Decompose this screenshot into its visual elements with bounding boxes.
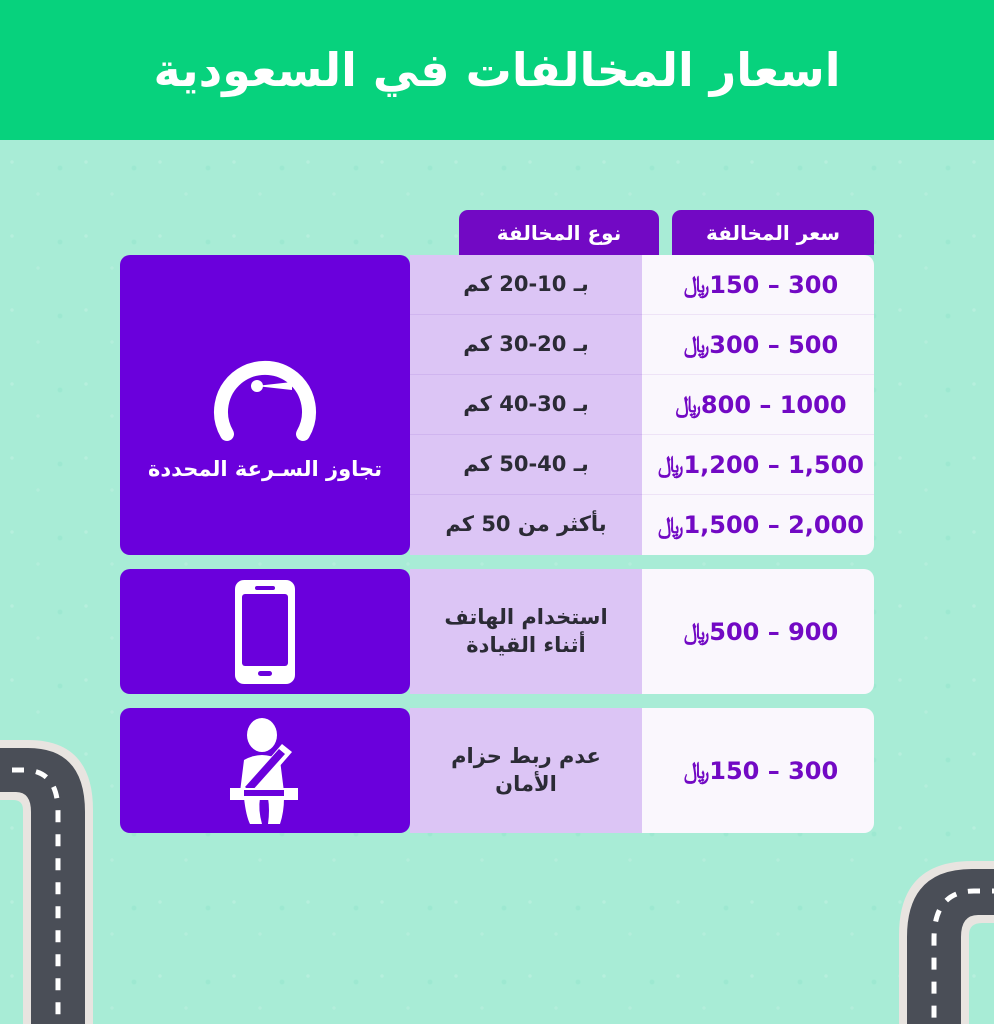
column-header-type: نوع المخالفة: [459, 210, 659, 255]
saudi-riyal-icon: ﷼: [675, 394, 700, 417]
table-row: ﷼150 – 300بـ 10-20 كم: [410, 255, 874, 315]
mobile-phone-icon: [233, 578, 297, 686]
cell-violation-price: ﷼1,500 – 2,000: [642, 495, 874, 555]
page-header-bar: اسعار المخالفات في السعودية: [0, 0, 994, 140]
cell-violation-price: ﷼800 – 1000: [642, 375, 874, 435]
violation-icon-card: تجاوز السـرعة المحددة: [120, 255, 410, 555]
violation-group-rows: ﷼150 – 300بـ 10-20 كم﷼300 – 500بـ 20-30 …: [410, 255, 874, 555]
cell-violation-price: ﷼300 – 500: [642, 315, 874, 375]
cell-violation-price: ﷼150 – 300: [642, 708, 874, 833]
saudi-riyal-icon: ﷼: [658, 515, 683, 538]
curved-road-right-decoration: [864, 825, 994, 1024]
violation-group-rows: ﷼150 – 300عدم ربط حزام الأمان: [410, 708, 874, 833]
violations-table: سعر المخالفة نوع المخالفة ﷼150 – 300بـ 1…: [120, 210, 874, 847]
table-column-headers: سعر المخالفة نوع المخالفة: [120, 210, 874, 255]
cell-violation-type: بـ 20-30 كم: [410, 315, 642, 375]
table-row: ﷼800 – 1000بـ 30-40 كم: [410, 375, 874, 435]
price-amount: 1,500 – 2,000: [683, 511, 864, 539]
violation-icon-card: [120, 569, 410, 694]
cell-violation-price: ﷼1,200 – 1,500: [642, 435, 874, 495]
seatbelt-icon: [210, 716, 320, 826]
page-title: اسعار المخالفات في السعودية: [153, 43, 840, 97]
cell-violation-type: بـ 30-40 كم: [410, 375, 642, 435]
price-amount: 150 – 300: [709, 757, 838, 785]
speedometer-icon: [200, 326, 330, 446]
violation-card-label: تجاوز السـرعة المحددة: [148, 456, 382, 483]
violation-icon-card: [120, 708, 410, 833]
column-header-price: سعر المخالفة: [672, 210, 874, 255]
violation-group: ﷼150 – 300بـ 10-20 كم﷼300 – 500بـ 20-30 …: [120, 255, 874, 555]
price-amount: 500 – 900: [709, 618, 838, 646]
price-amount: 300 – 500: [709, 331, 838, 359]
table-row: ﷼150 – 300عدم ربط حزام الأمان: [410, 708, 874, 833]
cell-violation-type: استخدام الهاتف أثناء القيادة: [410, 569, 642, 694]
price-amount: 800 – 1000: [701, 391, 847, 419]
cell-violation-type: بأكثر من 50 كم: [410, 495, 642, 555]
violation-group-rows: ﷼500 – 900استخدام الهاتف أثناء القيادة: [410, 569, 874, 694]
table-row: ﷼500 – 900استخدام الهاتف أثناء القيادة: [410, 569, 874, 694]
saudi-riyal-icon: ﷼: [684, 760, 709, 783]
price-amount: 1,200 – 1,500: [683, 451, 864, 479]
cell-violation-type: بـ 10-20 كم: [410, 255, 642, 315]
price-amount: 150 – 300: [709, 271, 838, 299]
table-row: ﷼300 – 500بـ 20-30 كم: [410, 315, 874, 375]
violation-group: ﷼150 – 300عدم ربط حزام الأمان: [120, 708, 874, 833]
violation-group: ﷼500 – 900استخدام الهاتف أثناء القيادة: [120, 569, 874, 694]
curved-road-left-decoration: [0, 700, 138, 1024]
saudi-riyal-icon: ﷼: [684, 621, 709, 644]
cell-violation-price: ﷼150 – 300: [642, 255, 874, 315]
table-row: ﷼1,200 – 1,500بـ 40-50 كم: [410, 435, 874, 495]
table-row: ﷼1,500 – 2,000بأكثر من 50 كم: [410, 495, 874, 555]
saudi-riyal-icon: ﷼: [658, 454, 683, 477]
cell-violation-price: ﷼500 – 900: [642, 569, 874, 694]
violation-groups-container: ﷼150 – 300بـ 10-20 كم﷼300 – 500بـ 20-30 …: [120, 255, 874, 833]
saudi-riyal-icon: ﷼: [684, 334, 709, 357]
saudi-riyal-icon: ﷼: [684, 274, 709, 297]
cell-violation-type: بـ 40-50 كم: [410, 435, 642, 495]
cell-violation-type: عدم ربط حزام الأمان: [410, 708, 642, 833]
